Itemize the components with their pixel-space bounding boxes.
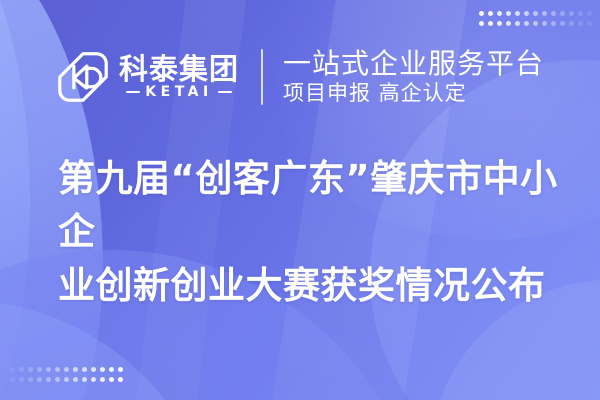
dot (587, 21, 592, 26)
dot (542, 21, 547, 26)
dot (55, 367, 60, 372)
dot (19, 367, 24, 372)
dot (64, 377, 69, 382)
dot (506, 21, 511, 26)
dot (515, 21, 520, 26)
dot-row (10, 367, 123, 372)
promo-banner: 科泰集团 KETAI 一站式企业服务平台 项目申报 高企认定 第九届“创客广东”… (0, 0, 600, 400)
dot (524, 11, 529, 16)
dot (497, 21, 502, 26)
tagline-primary: 一站式企业服务平台 (283, 48, 544, 79)
dot (10, 367, 15, 372)
dot (569, 11, 574, 16)
dot (488, 21, 493, 26)
dot (100, 367, 105, 372)
banner-title-line-2: 业创新创业大赛获奖情况公布 (58, 259, 558, 312)
dot (551, 11, 556, 16)
tagline-secondary: 项目申报 高企认定 (283, 82, 544, 106)
dot (569, 21, 574, 26)
dot (488, 11, 493, 16)
banner-title: 第九届“创客广东”肇庆市中小企 业创新创业大赛获奖情况公布 (58, 152, 558, 312)
dot (100, 377, 105, 382)
ketai-diamond-kd-logo-icon (56, 50, 110, 104)
dot (64, 367, 69, 372)
dot (515, 11, 520, 16)
dot-row (10, 377, 123, 382)
dot (524, 21, 529, 26)
dot (46, 367, 51, 372)
logo-wordmark: 科泰集团 KETAI (119, 55, 239, 99)
dot (28, 367, 33, 372)
dot (560, 11, 565, 16)
dot-grid-bottom-left (10, 367, 123, 382)
banner-title-line-1: 第九届“创客广东”肇庆市中小企 (58, 152, 558, 259)
dot (109, 377, 114, 382)
banner-header: 科泰集团 KETAI 一站式企业服务平台 项目申报 高企认定 (0, 44, 600, 110)
company-logo: 科泰集团 KETAI (56, 50, 239, 104)
logo-company-name-cn: 科泰集团 (119, 55, 239, 84)
logo-rule-right (218, 91, 232, 93)
tagline-block: 一站式企业服务平台 项目申报 高企认定 (283, 48, 544, 106)
dot (497, 11, 502, 16)
dot (73, 377, 78, 382)
dot (587, 11, 592, 16)
dot-row (479, 11, 592, 16)
dot-grid-top-right (479, 11, 592, 26)
dot (10, 377, 15, 382)
dot (73, 367, 78, 372)
dot (542, 11, 547, 16)
dot (551, 21, 556, 26)
dot (578, 21, 583, 26)
dot (91, 377, 96, 382)
dot (82, 377, 87, 382)
dot (109, 367, 114, 372)
dot-row (479, 21, 592, 26)
dot (37, 367, 42, 372)
dot (28, 377, 33, 382)
dot (560, 21, 565, 26)
dot (533, 21, 538, 26)
dot (46, 377, 51, 382)
dot (55, 377, 60, 382)
logo-latin-row: KETAI (119, 85, 239, 99)
dot (82, 367, 87, 372)
dot (479, 11, 484, 16)
dot (506, 11, 511, 16)
dot (479, 21, 484, 26)
dot (19, 377, 24, 382)
dot (578, 11, 583, 16)
logo-rule-left (126, 91, 140, 93)
dot (118, 377, 123, 382)
bottom-left-circle-accent-shape (0, 300, 220, 400)
dot (37, 377, 42, 382)
logo-company-name-latin: KETAI (145, 85, 212, 99)
dot (91, 367, 96, 372)
dot (533, 11, 538, 16)
header-vertical-divider (261, 49, 263, 105)
dot (118, 367, 123, 372)
